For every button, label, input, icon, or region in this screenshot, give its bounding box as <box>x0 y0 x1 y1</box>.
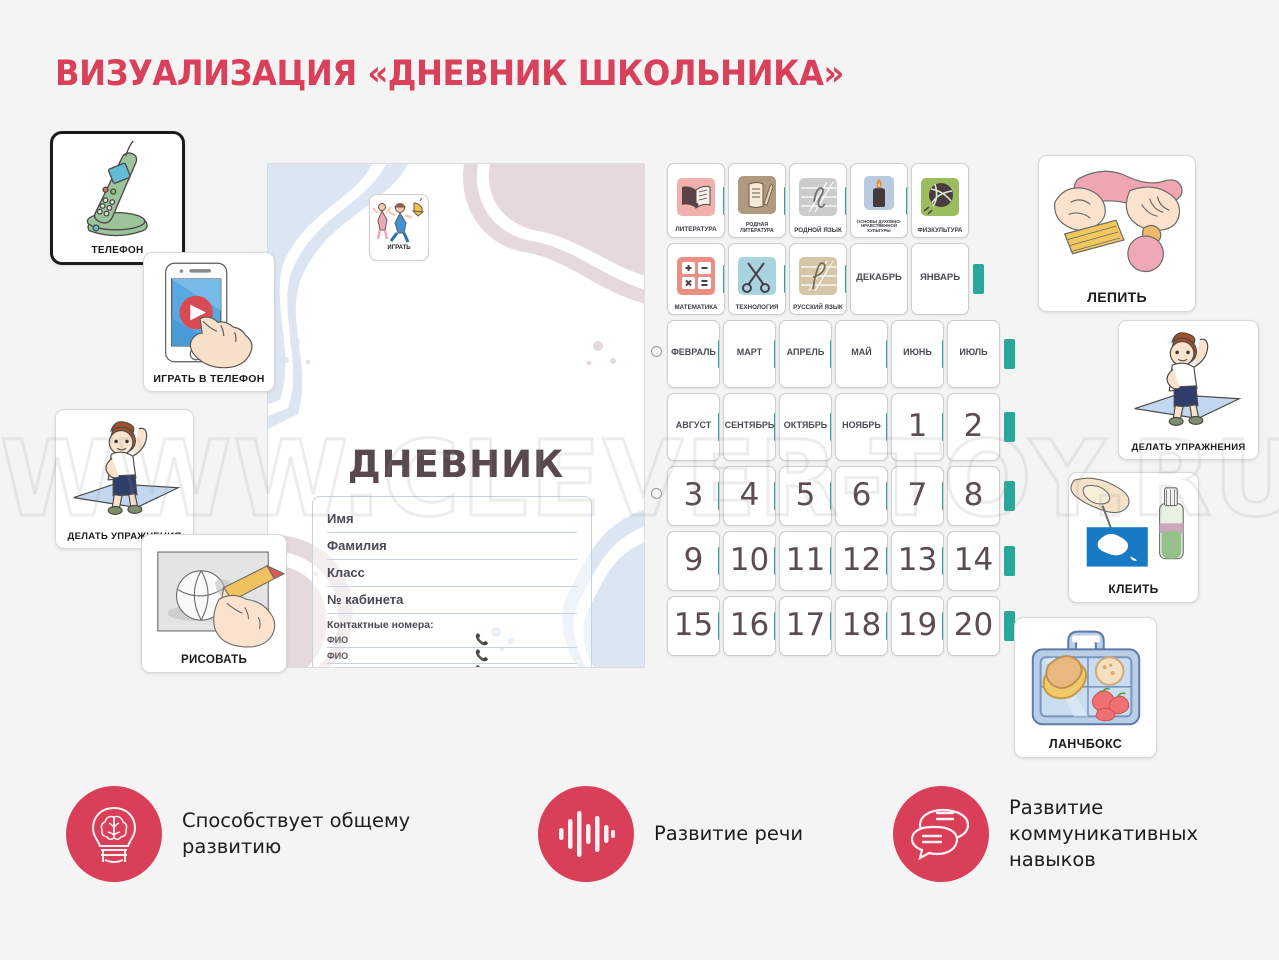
tile-separator <box>886 340 889 368</box>
cordless-phone-icon <box>53 134 182 244</box>
contact-row[interactable]: ФИО 📞 <box>327 664 577 668</box>
tile-label: 20 <box>948 610 999 642</box>
tile-label: 16 <box>724 610 775 642</box>
tile-month-december[interactable]: ДЕКАБРЬ <box>850 243 908 315</box>
grid-row-numbers-1: 3 4 5 6 7 8 <box>667 466 1015 526</box>
tile-month-november[interactable]: НОЯБРЬ <box>835 393 888 461</box>
tile-separator <box>718 340 721 368</box>
tile-label: 18 <box>836 610 887 642</box>
tile-month-march[interactable]: МАРТ <box>723 320 776 388</box>
tile-physical-education[interactable]: ФИЗКУЛЬТУРА <box>911 163 969 238</box>
hands-modelling-clay-icon <box>1039 156 1195 288</box>
tile-label: ОСНОВЫ ДУХОВНО-НРАВСТВЕННОЙ КУЛЬТУРЫ <box>851 220 907 237</box>
tile-separator <box>784 187 787 215</box>
tile-separator <box>723 265 726 293</box>
tile-label: АПРЕЛЬ <box>780 348 831 360</box>
tile-number-15[interactable]: 15 <box>667 596 720 656</box>
cursive-letter-icon <box>799 178 837 216</box>
tile-label: НОЯБРЬ <box>836 421 887 433</box>
card-artwork <box>1039 156 1195 288</box>
boy-stretching-icon <box>1119 321 1258 441</box>
grid-row-end-marker <box>1004 546 1015 576</box>
grid-row-end-marker <box>1004 481 1015 511</box>
tile-separator <box>830 340 833 368</box>
tile-month-july[interactable]: ИЮЛЬ <box>947 320 1000 388</box>
volleyball-icon <box>921 178 959 216</box>
tile-label: ОКТЯБРЬ <box>780 421 831 433</box>
scissors-icon <box>738 257 776 295</box>
card-artwork <box>1015 618 1156 736</box>
grid-row-end-marker <box>1004 412 1015 442</box>
tile-separator <box>942 340 945 368</box>
tile-separator <box>845 265 848 293</box>
tile-number-4[interactable]: 4 <box>723 466 776 526</box>
visual-schedule-grid: ЛИТЕРАТУРА РОДНАЯ ЛИТЕРАТУРА <box>667 163 1015 661</box>
phone-ring-icon: 📞 <box>475 649 489 662</box>
contact-label: ФИО <box>327 664 577 668</box>
sound-wave-icon <box>557 808 615 860</box>
tile-separator <box>718 482 721 510</box>
pecs-card-do-exercises-left[interactable]: ДЕЛАТЬ УПРАЖНЕНИЯ <box>55 409 194 549</box>
tile-number-16[interactable]: 16 <box>723 596 776 656</box>
pecs-card-label: ЛЕПИТЬ <box>1039 288 1195 311</box>
tile-separator <box>774 340 777 368</box>
contact-label: ФИО <box>327 648 577 663</box>
tile-label: РОДНОЙ ЯЗЫК <box>790 228 846 237</box>
tile-separator <box>845 187 848 215</box>
diary-title: ДНЕВНИК <box>268 443 644 486</box>
tile-month-august[interactable]: АВГУСТ <box>667 393 720 461</box>
pecs-card-model-clay[interactable]: ЛЕПИТЬ <box>1038 155 1196 312</box>
tile-russian-language[interactable]: РУССКИЙ ЯЗЫК <box>789 243 847 315</box>
grid-row-months-1: ФЕВРАЛЬ МАРТ АПРЕЛЬ МАЙ ИЮНЬ ИЮЛЬ <box>667 320 1015 388</box>
tile-separator <box>886 612 889 640</box>
pecs-card-label: ДЕЛАТЬ УПРАЖНЕНИЯ <box>1119 441 1258 459</box>
contact-row[interactable]: ФИО 📞 <box>327 632 577 648</box>
tile-month-january[interactable]: ЯНВАРЬ <box>911 243 969 315</box>
feature-text: Развитие речи <box>654 821 803 847</box>
feature-icon-circle <box>538 786 634 882</box>
tile-number-5[interactable]: 5 <box>779 466 832 526</box>
tile-label: 17 <box>780 610 831 642</box>
feature-speech-development: Развитие речи <box>538 786 803 882</box>
tile-number-8[interactable]: 8 <box>947 466 1000 526</box>
pecs-card-lunchbox[interactable]: ЛАНЧБОКС <box>1014 617 1157 758</box>
tile-label: 13 <box>892 545 943 577</box>
field-row-class[interactable]: Класс <box>327 560 577 587</box>
grid-row-end-marker <box>973 264 984 294</box>
tile-separator <box>942 547 945 575</box>
tile-label: ИЮНЬ <box>892 348 943 360</box>
grid-row-numbers-2: 9 10 11 12 13 14 <box>667 531 1015 591</box>
card-artwork <box>56 410 193 530</box>
tile-separator <box>886 413 889 441</box>
tile-label: МАЙ <box>836 348 887 360</box>
tile-label: 14 <box>948 545 999 577</box>
feature-icon-circle <box>66 786 162 882</box>
field-label: Фамилия <box>327 533 577 559</box>
binder-ring <box>651 346 662 357</box>
tile-icon-slot <box>790 164 846 228</box>
tile-label: 1 <box>892 411 943 443</box>
scroll-quill-icon <box>738 176 776 214</box>
tile-separator <box>942 612 945 640</box>
tile-icon-slot <box>668 164 724 227</box>
pecs-card-play[interactable]: ИГРАТЬ <box>369 194 429 261</box>
tile-label: 12 <box>836 545 887 577</box>
tile-label: ЯНВАРЬ <box>912 273 968 286</box>
hand-tapping-smartphone-icon <box>144 253 274 372</box>
tile-month-september[interactable]: СЕНТЯБРЬ <box>723 393 776 461</box>
tile-separator <box>723 187 726 215</box>
contact-label: ФИО <box>327 632 577 647</box>
tile-month-april[interactable]: АПРЕЛЬ <box>779 320 832 388</box>
tile-label: РОДНАЯ ЛИТЕРАТУРА <box>729 223 785 237</box>
grid-row-subjects-2: МАТЕМАТИКА ТЕХНОЛОГИЯ <box>667 243 1015 315</box>
tile-label: РУССКИЙ ЯЗЫК <box>790 305 846 314</box>
binder-ring <box>651 488 662 499</box>
pecs-card-telephone[interactable]: ТЕЛЕФОН <box>50 131 185 265</box>
field-label: Имя <box>327 506 577 532</box>
tile-month-february[interactable]: ФЕВРАЛЬ <box>667 320 720 388</box>
tile-label: 15 <box>668 610 719 642</box>
grid-row-subjects-1: ЛИТЕРАТУРА РОДНАЯ ЛИТЕРАТУРА <box>667 163 1015 238</box>
tile-label: 9 <box>668 545 719 577</box>
diary-cover: ИГРАТЬ ДНЕВНИК Имя Фамилия Класс № кабин… <box>267 163 645 668</box>
phone-ring-icon: 📞 <box>475 633 489 646</box>
tile-icon-slot <box>790 244 846 305</box>
tile-month-may[interactable]: МАЙ <box>835 320 888 388</box>
tile-label: МАРТ <box>724 348 775 360</box>
tile-label: 11 <box>780 545 831 577</box>
speech-bubbles-icon <box>911 807 971 861</box>
tile-icon-slot <box>668 244 724 305</box>
tile-number-9[interactable]: 9 <box>667 531 720 591</box>
pecs-card-do-exercises-right[interactable]: ДЕЛАТЬ УПРАЖНЕНИЯ <box>1118 320 1259 460</box>
tile-label: 4 <box>724 480 775 512</box>
tile-number-3[interactable]: 3 <box>667 466 720 526</box>
tile-separator <box>886 547 889 575</box>
open-book-icon <box>677 178 715 216</box>
tile-label: 8 <box>948 480 999 512</box>
contact-row[interactable]: ФИО 📞 <box>327 648 577 664</box>
tile-number-13[interactable]: 13 <box>891 531 944 591</box>
tile-separator <box>784 265 787 293</box>
tile-label: ДЕКАБРЬ <box>851 273 907 286</box>
children-playing-bell-icon <box>370 195 428 245</box>
tile-separator <box>718 547 721 575</box>
tile-label: МАТЕМАТИКА <box>668 305 724 314</box>
tile-icon-slot <box>851 164 907 220</box>
tile-number-18[interactable]: 18 <box>835 596 888 656</box>
tile-label: ФИЗКУЛЬТУРА <box>912 228 968 237</box>
feature-icon-circle <box>893 786 989 882</box>
tile-number-12[interactable]: 12 <box>835 531 888 591</box>
tile-separator <box>774 547 777 575</box>
card-artwork <box>1069 473 1198 581</box>
tile-separator <box>718 413 721 441</box>
pecs-card-label: ИГРАТЬ <box>387 245 410 254</box>
tile-label: 7 <box>892 480 943 512</box>
hand-drawing-ball-icon <box>142 535 286 652</box>
tile-separator <box>774 482 777 510</box>
tile-separator <box>886 482 889 510</box>
tile-label: 2 <box>948 411 999 443</box>
calculator-signs-icon <box>677 257 715 295</box>
tile-separator <box>774 612 777 640</box>
tile-label: СЕНТЯБРЬ <box>724 421 775 433</box>
tile-separator <box>830 482 833 510</box>
tile-spiritual-culture[interactable]: ОСНОВЫ ДУХОВНО-НРАВСТВЕННОЙ КУЛЬТУРЫ <box>850 163 908 238</box>
grid-row-numbers-3: 15 16 17 18 19 20 <box>667 596 1015 656</box>
tile-label: ТЕХНОЛОГИЯ <box>729 305 785 314</box>
field-row-name[interactable]: Имя <box>327 506 577 533</box>
tile-number-6[interactable]: 6 <box>835 466 888 526</box>
card-artwork <box>53 134 182 244</box>
pecs-card-draw[interactable]: РИСОВАТЬ <box>141 534 287 673</box>
pecs-card-label: КЛЕИТЬ <box>1069 581 1198 602</box>
pecs-card-play-on-phone[interactable]: ИГРАТЬ В ТЕЛЕФОН <box>143 252 275 392</box>
tile-icon-slot <box>729 244 785 305</box>
card-artwork <box>1119 321 1258 441</box>
tile-separator <box>830 612 833 640</box>
brain-lightbulb-icon <box>86 804 142 864</box>
tile-separator <box>906 187 909 215</box>
feature-text: Способствует общему развитию <box>182 808 447 859</box>
card-artwork <box>142 535 286 652</box>
field-row-surname[interactable]: Фамилия <box>327 533 577 560</box>
tile-number-7[interactable]: 7 <box>891 466 944 526</box>
tile-number-2[interactable]: 2 <box>947 393 1000 461</box>
field-label: № кабинета <box>327 587 577 613</box>
glue-stick-icon <box>1069 473 1198 581</box>
tile-month-october[interactable]: ОКТЯБРЬ <box>779 393 832 461</box>
tile-label: 5 <box>780 480 831 512</box>
tile-separator <box>942 413 945 441</box>
tile-mathematics[interactable]: МАТЕМАТИКА <box>667 243 725 315</box>
pecs-card-label: ЛАНЧБОКС <box>1015 736 1156 757</box>
grid-row-months-2: АВГУСТ СЕНТЯБРЬ ОКТЯБРЬ НОЯБРЬ 1 2 <box>667 393 1015 461</box>
feature-communication-skills: Развитие коммуникативных навыков <box>893 786 1224 882</box>
lunchbox-icon <box>1015 618 1156 736</box>
tile-number-20[interactable]: 20 <box>947 596 1000 656</box>
tile-native-literature[interactable]: РОДНАЯ ЛИТЕРАТУРА <box>728 163 786 238</box>
tile-label: 3 <box>668 480 719 512</box>
grid-row-end-marker <box>1004 339 1015 369</box>
card-artwork <box>144 253 274 372</box>
tile-label: 19 <box>892 610 943 642</box>
tile-technology[interactable]: ТЕХНОЛОГИЯ <box>728 243 786 315</box>
feature-text: Развитие коммуникативных навыков <box>1009 795 1224 872</box>
tile-label: 6 <box>836 480 887 512</box>
tile-number-10[interactable]: 10 <box>723 531 776 591</box>
tile-label: ФЕВРАЛЬ <box>668 348 719 360</box>
cursive-letter-icon <box>799 257 837 295</box>
tile-literature[interactable]: ЛИТЕРАТУРА <box>667 163 725 238</box>
tile-label: ЛИТЕРАТУРА <box>668 227 724 237</box>
boy-stretching-icon <box>56 410 193 530</box>
tile-month-june[interactable]: ИЮНЬ <box>891 320 944 388</box>
tile-separator <box>830 547 833 575</box>
pecs-card-label: РИСОВАТЬ <box>142 652 286 672</box>
contacts-header: Контактные номера: <box>327 614 577 632</box>
pecs-card-glue[interactable]: КЛЕИТЬ <box>1068 472 1199 603</box>
phone-ring-icon: 📞 <box>475 665 489 668</box>
poster-canvas: ВИЗУАЛИЗАЦИЯ «ДНЕВНИК ШКОЛЬНИКА» <box>0 0 1279 960</box>
diary-form: Имя Фамилия Класс № кабинета Контактные … <box>312 496 592 668</box>
tile-separator <box>718 612 721 640</box>
tile-number-19[interactable]: 19 <box>891 596 944 656</box>
candle-icon <box>864 176 894 210</box>
page-title: ВИЗУАЛИЗАЦИЯ «ДНЕВНИК ШКОЛЬНИКА» <box>55 54 844 94</box>
pecs-card-label: ИГРАТЬ В ТЕЛЕФОН <box>144 372 274 391</box>
tile-separator <box>942 482 945 510</box>
tile-icon-slot <box>729 164 785 223</box>
feature-general-development: Способствует общему развитию <box>66 786 447 882</box>
tile-native-language[interactable]: РОДНОЙ ЯЗЫК <box>789 163 847 238</box>
field-label: Класс <box>327 560 577 586</box>
tile-label: 10 <box>724 545 775 577</box>
field-row-room[interactable]: № кабинета <box>327 587 577 614</box>
tile-label: ИЮЛЬ <box>948 348 999 360</box>
tile-icon-slot <box>912 164 968 228</box>
tile-number-1[interactable]: 1 <box>891 393 944 461</box>
tile-separator <box>830 413 833 441</box>
tile-number-14[interactable]: 14 <box>947 531 1000 591</box>
tile-number-11[interactable]: 11 <box>779 531 832 591</box>
tile-label: АВГУСТ <box>668 421 719 433</box>
tile-separator <box>774 413 777 441</box>
tile-number-17[interactable]: 17 <box>779 596 832 656</box>
